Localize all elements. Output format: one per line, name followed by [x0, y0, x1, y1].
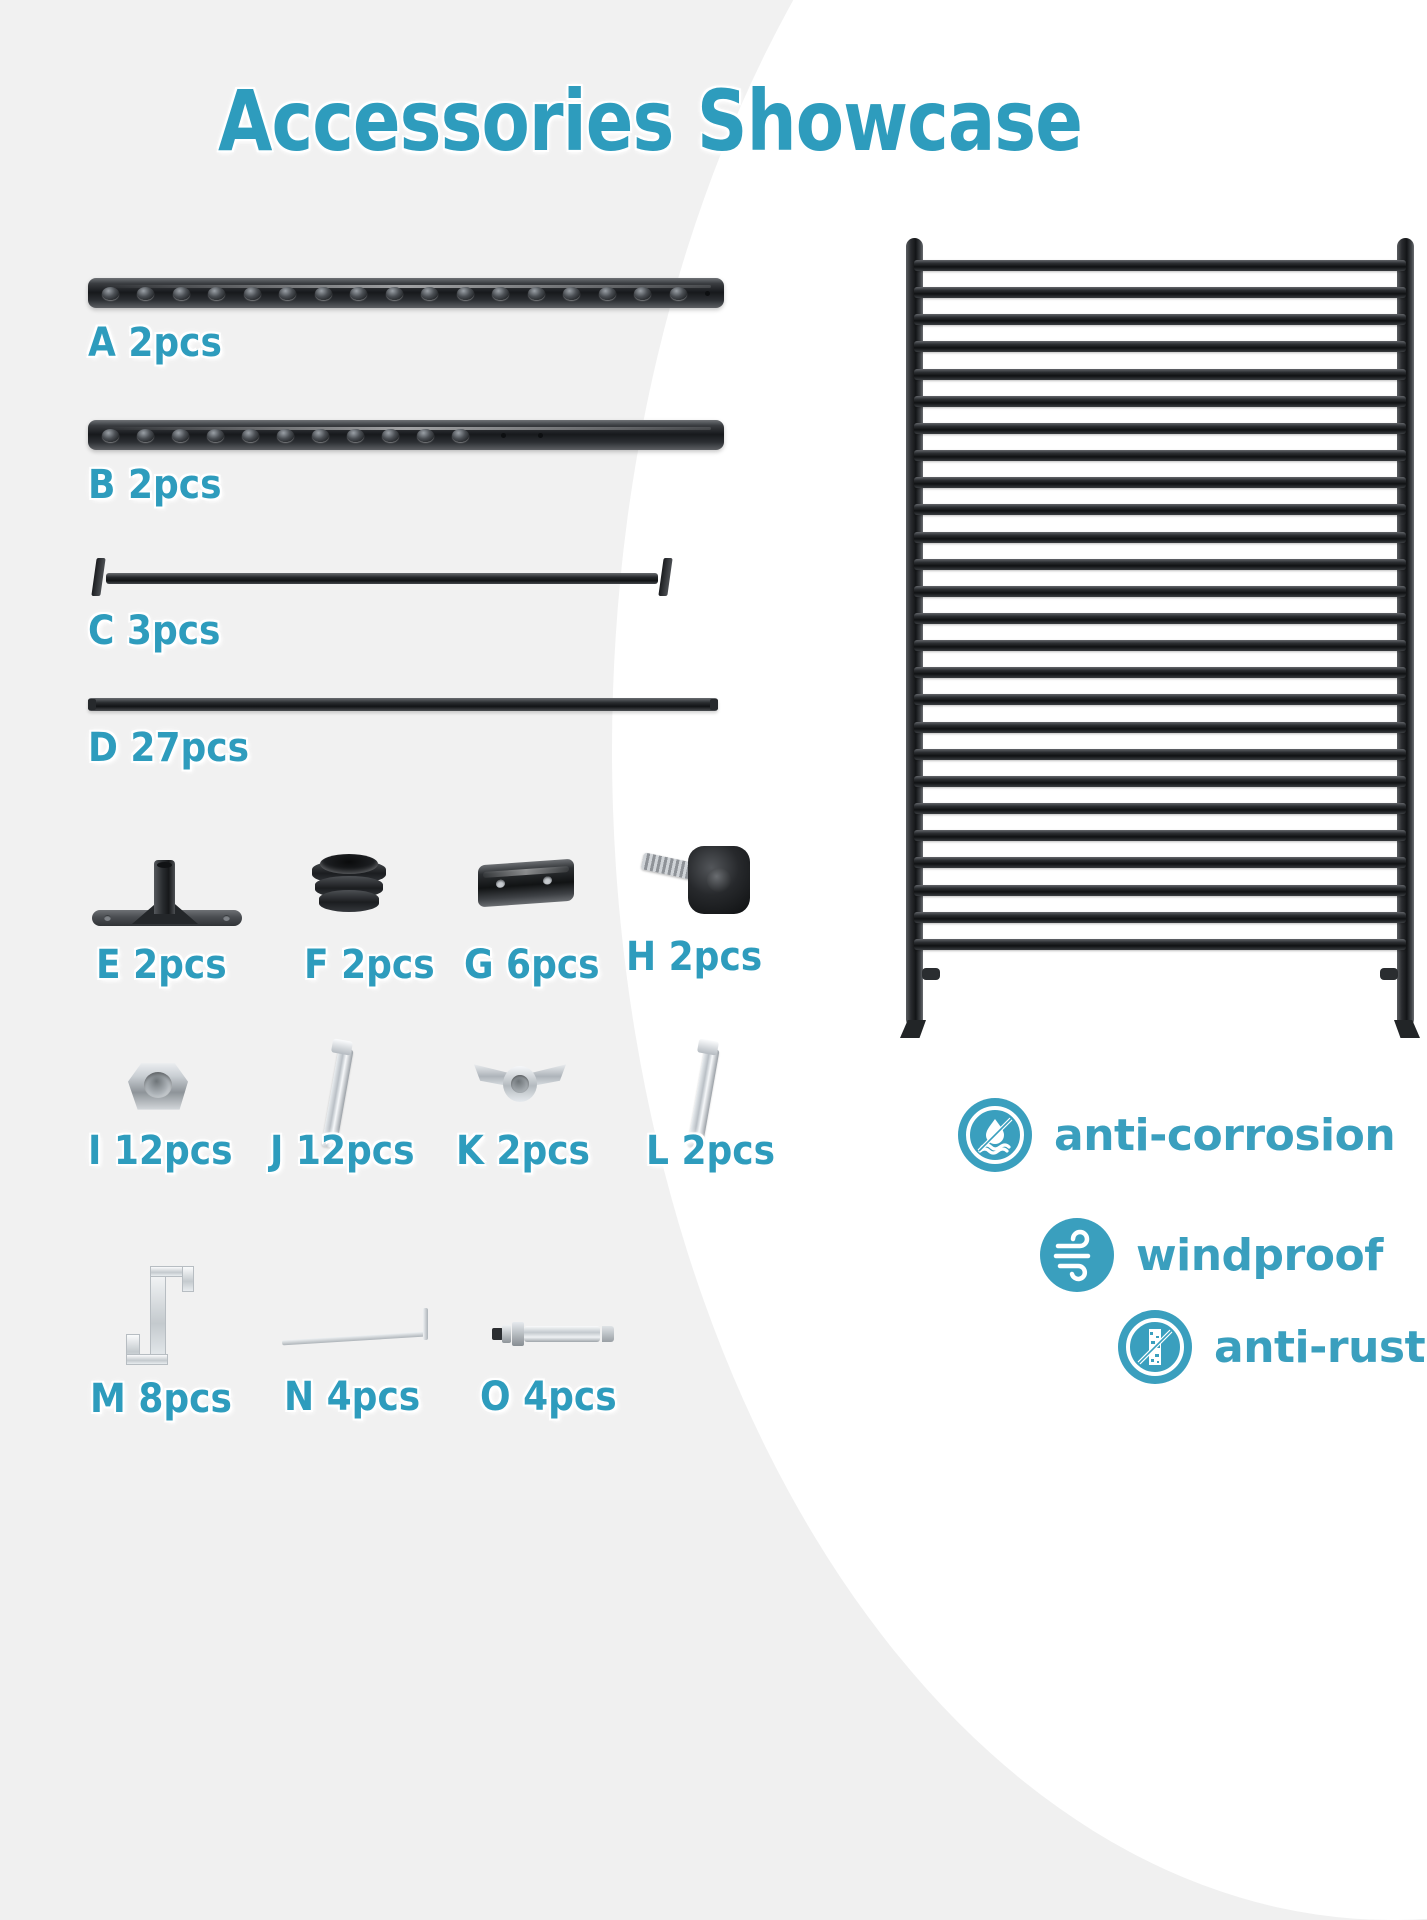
part-n-label: N 4pcs — [284, 1374, 420, 1420]
tube-hole — [417, 429, 434, 442]
part-g-sleeve — [478, 862, 578, 922]
hole-row — [88, 420, 724, 450]
tube-hole — [599, 287, 616, 300]
part-f-label: F 2pcs — [304, 942, 435, 988]
fence-knob-left — [922, 968, 940, 980]
fence-slat — [914, 857, 1406, 868]
tube-hole — [563, 287, 580, 300]
tube-hole — [347, 429, 364, 442]
fence-slat — [914, 722, 1406, 733]
anchor-tip — [602, 1326, 614, 1342]
tube-hole — [172, 429, 189, 442]
tube-hole — [421, 287, 438, 300]
tube-hole — [208, 287, 225, 300]
product-fence-panel — [900, 238, 1420, 1038]
rod-cap-right — [710, 699, 718, 710]
tube-hole — [173, 287, 190, 300]
part-cell-n: N 4pcs — [282, 1302, 438, 1366]
part-cell-g: G 6pcs — [478, 862, 578, 922]
fence-slat — [914, 939, 1406, 950]
fence-knob-right — [1380, 968, 1398, 980]
part-o-label: O 4pcs — [480, 1374, 617, 1420]
part-h-knob-bolt — [640, 842, 760, 926]
t-end-left — [91, 558, 105, 596]
cap-body — [312, 852, 386, 914]
feature-anti-rust: anti-rust — [1118, 1310, 1425, 1384]
fence-slat — [914, 830, 1406, 841]
page-title: Accessories Showcase — [46, 72, 1255, 170]
tube-hole — [457, 287, 474, 300]
bracket-bottom-arm — [126, 1354, 168, 1365]
fence-slat — [914, 694, 1406, 705]
part-cell-e: E 2pcs — [92, 846, 252, 936]
feature-anti-corrosion: anti-corrosion — [958, 1098, 1395, 1172]
allen-key-body — [282, 1302, 432, 1362]
part-cell-l: L 2pcs — [684, 1040, 734, 1158]
hole-row — [88, 278, 724, 308]
tube-hole — [244, 287, 261, 300]
tube-hole — [528, 287, 545, 300]
fence-slat — [914, 396, 1406, 407]
tube-hole — [452, 429, 469, 442]
part-cell-h: H 2pcs — [640, 842, 760, 926]
tube-hole — [492, 287, 509, 300]
knob-body — [640, 842, 750, 920]
tube-hole — [312, 429, 329, 442]
part-a-label: A 2pcs — [88, 320, 724, 366]
part-n-allen-key — [282, 1302, 438, 1366]
short-arm — [423, 1308, 428, 1340]
tube-hole — [207, 429, 224, 442]
bracket-body — [120, 1262, 212, 1372]
part-i-label: I 12pcs — [88, 1128, 233, 1174]
tube-hole — [277, 429, 294, 442]
anchor-nut — [512, 1322, 524, 1346]
part-i-hex-nut — [128, 1060, 194, 1122]
sleeve-hole — [543, 876, 552, 885]
wing-nut-hub — [503, 1066, 537, 1102]
part-m-z-bracket — [120, 1262, 216, 1376]
anchor-washer — [502, 1325, 511, 1343]
part-cell-m: M 8pcs — [120, 1262, 216, 1376]
fence-slat — [914, 885, 1406, 896]
fence-slat — [914, 260, 1406, 271]
fence-slat — [914, 559, 1406, 570]
tube-hole — [382, 429, 399, 442]
bolt-head — [331, 1038, 353, 1055]
nut-bore — [144, 1072, 172, 1098]
fence-slat — [914, 532, 1406, 543]
tube-hole — [315, 287, 332, 300]
fence-slat — [914, 613, 1406, 624]
tube-hole — [670, 287, 687, 300]
part-c-label: C 3pcs — [88, 608, 676, 654]
fence-slat — [914, 314, 1406, 325]
anchor-body — [490, 1318, 614, 1352]
fence-slat — [914, 287, 1406, 298]
tube-hole — [102, 429, 119, 442]
part-b-label: B 2pcs — [88, 462, 724, 508]
bolt-head — [697, 1038, 719, 1055]
rod-cap-left — [88, 699, 96, 710]
part-cell-f: F 2pcs — [312, 852, 396, 936]
part-e-label: E 2pcs — [96, 942, 227, 988]
fence-slat — [914, 749, 1406, 760]
post — [154, 860, 175, 914]
tube-hole — [137, 287, 154, 300]
tube-small-hole — [705, 291, 710, 296]
tube-hole — [137, 429, 154, 442]
tube-hole — [350, 287, 367, 300]
wing-right — [532, 1062, 566, 1086]
part-g-label: G 6pcs — [464, 942, 600, 988]
tube-hole — [242, 429, 259, 442]
part-cell-i: I 12pcs — [128, 1060, 194, 1122]
part-d-label: D 27pcs — [88, 725, 718, 771]
screw-hole — [104, 915, 111, 921]
part-k-label: K 2pcs — [456, 1128, 590, 1174]
anchor-sleeve — [524, 1326, 600, 1342]
part-row-d: D 27pcs — [88, 698, 718, 771]
tube-small-hole — [501, 433, 506, 438]
sleeve-hole — [496, 879, 505, 888]
fence-slat — [914, 423, 1406, 434]
feature-label: anti-rust — [1214, 1322, 1425, 1373]
fence-slat — [914, 640, 1406, 651]
part-j-label: J 12pcs — [270, 1128, 415, 1174]
part-row-b: B 2pcs — [88, 420, 724, 508]
wind-icon — [1040, 1218, 1114, 1292]
feature-label: anti-corrosion — [1054, 1110, 1395, 1161]
cap-opening — [320, 854, 378, 874]
tube-hole — [634, 287, 651, 300]
sleeve-body — [478, 859, 574, 908]
fence-slat — [914, 803, 1406, 814]
hex-nut-body — [128, 1060, 188, 1114]
rib — [319, 890, 379, 912]
t-end-right — [658, 558, 672, 596]
fence-foot-right — [1394, 1020, 1420, 1038]
part-k-wing-nut — [474, 1058, 570, 1118]
part-f-end-cap — [312, 852, 396, 936]
part-b-perforated-tube — [88, 420, 724, 450]
part-m-label: M 8pcs — [90, 1376, 232, 1422]
tube-hole — [102, 287, 119, 300]
fence-slat — [914, 477, 1406, 488]
water-drop-no-icon — [958, 1098, 1032, 1172]
long-arm — [282, 1332, 424, 1346]
star-knob — [688, 846, 750, 914]
part-a-perforated-tube — [88, 278, 724, 308]
bracket-top-lip — [182, 1266, 194, 1292]
part-cell-j: J 12pcs — [318, 1040, 368, 1158]
part-l-label: L 2pcs — [646, 1128, 775, 1174]
bracket-vertical — [150, 1266, 166, 1362]
shaft — [106, 573, 658, 584]
fence-slat — [914, 912, 1406, 923]
fence-foot-left — [900, 1020, 926, 1038]
tube-small-hole — [538, 433, 543, 438]
part-o-expansion-anchor — [490, 1318, 620, 1358]
fence-slat-group — [914, 260, 1406, 966]
fence-slat — [914, 776, 1406, 787]
part-row-a: A 2pcs — [88, 278, 724, 366]
part-d-rod — [88, 698, 718, 711]
part-h-label: H 2pcs — [626, 934, 762, 980]
part-row-c: C 3pcs — [88, 558, 676, 654]
part-cell-k: K 2pcs — [474, 1058, 570, 1118]
part-cell-o: O 4pcs — [490, 1318, 620, 1358]
fence-slat — [914, 450, 1406, 461]
tube-hole — [386, 287, 403, 300]
fence-slat — [914, 341, 1406, 352]
part-c-crossbar — [88, 558, 676, 598]
wing-nut-body — [474, 1058, 566, 1110]
highlight — [483, 866, 569, 878]
fence-slat — [914, 586, 1406, 597]
part-e-base-plate-post — [92, 846, 252, 936]
rust-bar-no-icon — [1118, 1310, 1192, 1384]
fence-slat — [914, 369, 1406, 380]
tube-hole — [279, 287, 296, 300]
feature-windproof: windproof — [1040, 1218, 1383, 1292]
screw-hole — [223, 915, 230, 921]
fence-slat — [914, 504, 1406, 515]
fence-slat — [914, 667, 1406, 678]
feature-label: windproof — [1136, 1230, 1383, 1281]
